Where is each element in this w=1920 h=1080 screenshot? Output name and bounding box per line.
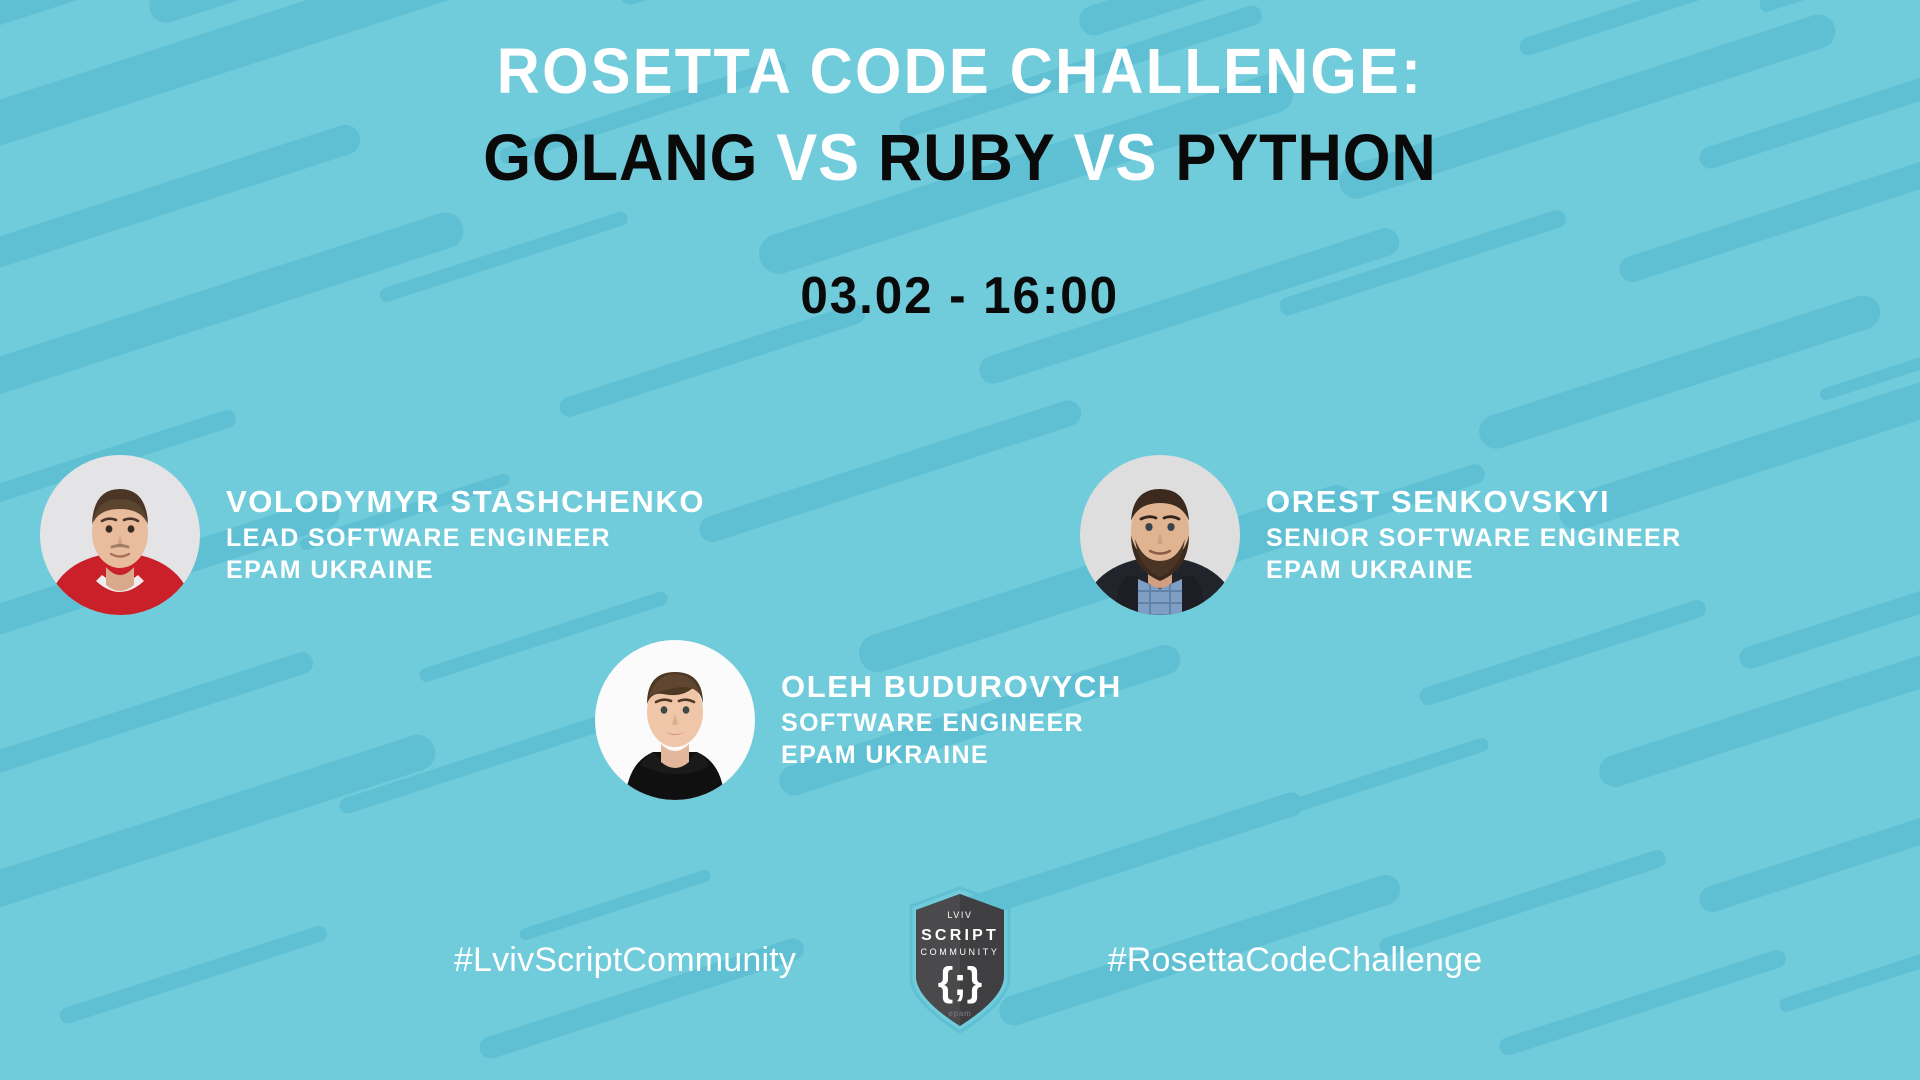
page-title-line-1: ROSETTA CODE CHALLENGE: [67, 38, 1853, 105]
title-token-ruby: RUBY [878, 120, 1056, 194]
event-datetime: 03.02 - 16:00 [801, 266, 1120, 326]
title-token-golang: GOLANG [483, 120, 758, 194]
title-block: ROSETTA CODE CHALLENGE: GOLANG VS RUBY V… [0, 38, 1920, 192]
title-token-vs: VS [1074, 120, 1158, 194]
page-title-line-2: GOLANG VS RUBY VS PYTHON [67, 123, 1853, 192]
title-token-vs: VS [776, 120, 860, 194]
title-token-python: PYTHON [1175, 120, 1436, 194]
poster-stage: ROSETTA CODE CHALLENGE: GOLANG VS RUBY V… [0, 0, 1920, 1080]
